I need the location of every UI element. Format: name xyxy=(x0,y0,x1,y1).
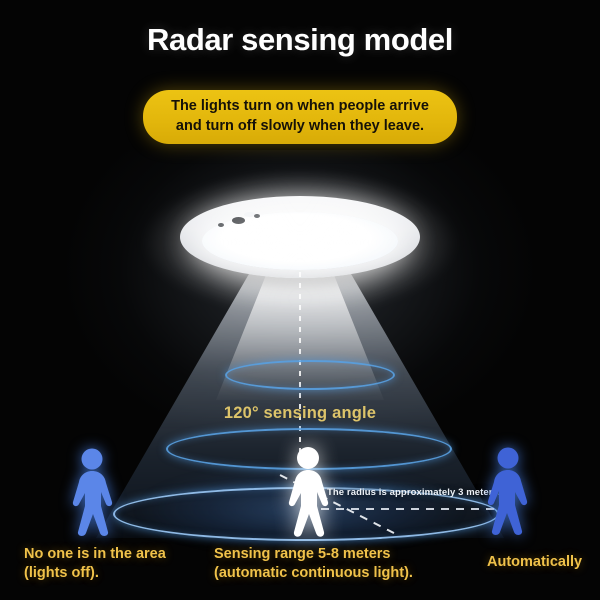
caption-middle: Sensing range 5-8 meters (automatic cont… xyxy=(214,545,413,583)
caption-middle-line-1: Sensing range 5-8 meters xyxy=(214,545,413,564)
caption-left-line-1: No one is in the area xyxy=(24,545,166,564)
caption-middle-line-2: (automatic continuous light). xyxy=(214,564,413,583)
caption-right: Automatically xyxy=(487,553,582,572)
radar-sensing-diagram: Radar sensing model The lights turn on w… xyxy=(0,0,600,600)
radius-annotation: The radius is approximately 3 meters. xyxy=(327,487,501,498)
tagline-line-1: The lights turn on when people arrive xyxy=(157,97,443,117)
caption-left-line-2: (lights off). xyxy=(24,564,166,583)
sensing-ring-inner xyxy=(225,360,395,390)
page-title: Radar sensing model xyxy=(0,22,600,58)
tagline-badge: The lights turn on when people arrive an… xyxy=(143,90,457,144)
lamp-indicator-dot-1 xyxy=(218,223,224,227)
person-figure-left xyxy=(62,448,122,536)
sensing-angle-label: 120° sensing angle xyxy=(0,404,600,423)
person-figure-center xyxy=(277,447,339,537)
person-figure-right xyxy=(478,447,538,535)
caption-left: No one is in the area (lights off). xyxy=(24,545,166,583)
radar-sensor-icon xyxy=(232,217,245,224)
lamp-indicator-dot-2 xyxy=(254,214,260,218)
tagline-line-2: and turn off slowly when they leave. xyxy=(157,117,443,137)
ceiling-lamp-icon xyxy=(180,196,420,278)
